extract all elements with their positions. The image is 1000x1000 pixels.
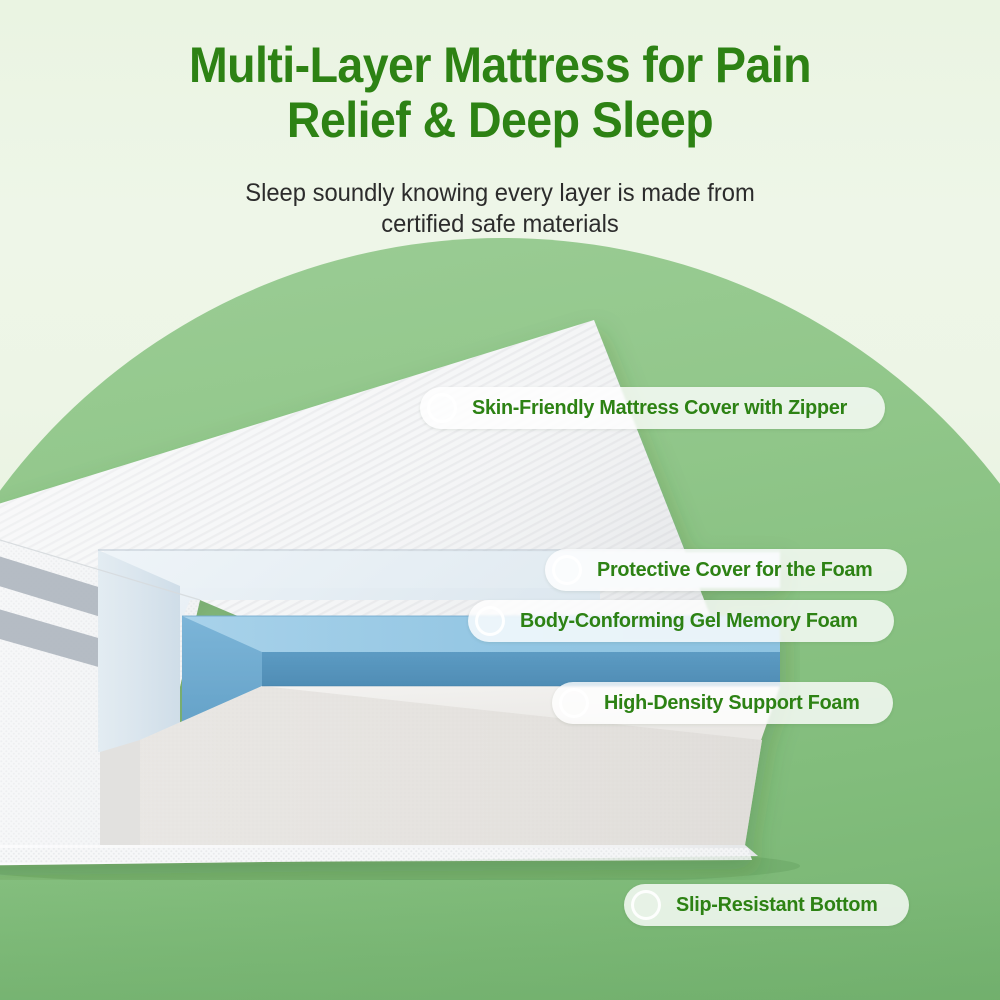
- page-title-line-1: Multi-Layer Mattress for Pain: [189, 37, 811, 93]
- support-foam-left-return: [100, 740, 140, 845]
- label-pill-skin-friendly-cover[interactable]: Skin-Friendly Mattress Cover with Zipper: [420, 387, 885, 429]
- label-pill-gel-memory-foam[interactable]: Body-Conforming Gel Memory Foam: [468, 600, 894, 642]
- page-title: Multi-Layer Mattress for Pain Relief & D…: [35, 38, 965, 148]
- bullet-dot-icon: [427, 393, 457, 423]
- label-text: Protective Cover for the Foam: [597, 558, 873, 582]
- label-text: High-Density Support Foam: [604, 691, 860, 715]
- label-pill-support-foam[interactable]: High-Density Support Foam: [552, 682, 893, 724]
- page-subtitle-line-2: certified safe materials: [25, 209, 975, 240]
- page-subtitle: Sleep soundly knowing every layer is mad…: [25, 178, 975, 239]
- infographic-canvas: Multi-Layer Mattress for Pain Relief & D…: [0, 0, 1000, 1000]
- bullet-dot-icon: [559, 688, 589, 718]
- label-text: Skin-Friendly Mattress Cover with Zipper: [472, 396, 847, 420]
- label-text: Body-Conforming Gel Memory Foam: [520, 609, 858, 633]
- label-pill-protective-cover[interactable]: Protective Cover for the Foam: [545, 549, 907, 591]
- bullet-dot-icon: [475, 606, 505, 636]
- page-title-line-2: Relief & Deep Sleep: [35, 93, 965, 148]
- label-text: Slip-Resistant Bottom: [676, 893, 878, 917]
- bullet-dot-icon: [552, 555, 582, 585]
- page-subtitle-line-1: Sleep soundly knowing every layer is mad…: [245, 179, 755, 207]
- bullet-dot-icon: [631, 890, 661, 920]
- label-pill-slip-resistant-bottom[interactable]: Slip-Resistant Bottom: [624, 884, 909, 926]
